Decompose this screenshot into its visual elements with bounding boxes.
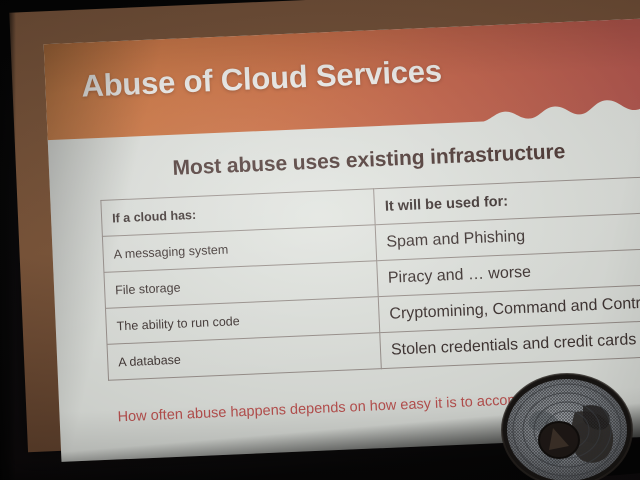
abuse-mapping-table: If a cloud has: It will be used for: A m… — [100, 175, 640, 381]
slide-subtitle: Most abuse uses existing infrastructure — [49, 135, 640, 186]
wall-fan-icon — [497, 372, 640, 480]
fan-graphic — [497, 372, 640, 480]
photo-of-presentation-slide: Abuse of Cloud Services Most abuse uses … — [0, 0, 640, 480]
